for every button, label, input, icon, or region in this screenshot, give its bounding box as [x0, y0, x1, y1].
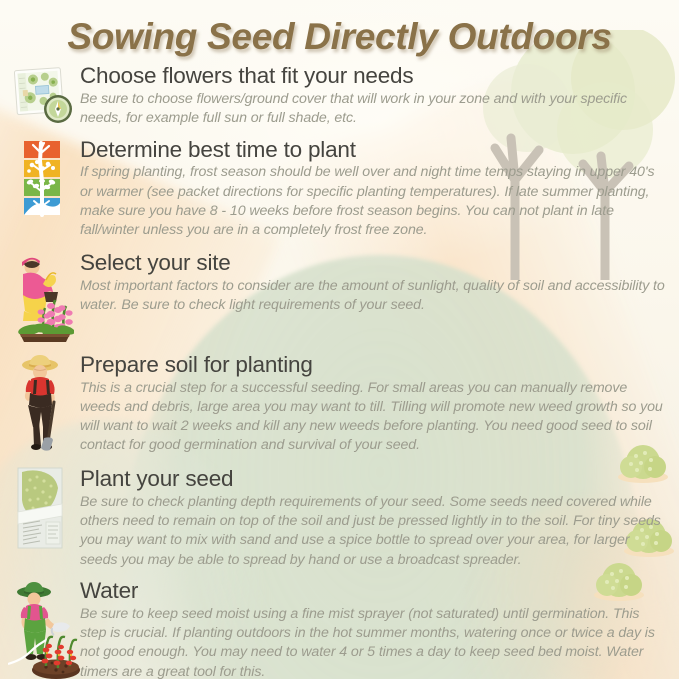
step-heading: Choose flowers that fit your needs: [80, 63, 667, 89]
step-text: Most important factors to consider are t…: [80, 277, 667, 316]
step-item: Select your site Most important factors …: [0, 250, 679, 342]
step-content: Plant your seed Be sure to check plantin…: [76, 466, 671, 570]
step-heading: Water: [80, 578, 667, 604]
step-heading: Determine best time to plant: [80, 137, 667, 163]
infographic-poster: Sowing Seed Directly Outdoors: [0, 0, 679, 679]
garden-plan-compass-icon: [10, 63, 76, 125]
step-text: This is a crucial step for a successful …: [80, 379, 667, 456]
step-content: Determine best time to plant If spring p…: [76, 137, 671, 241]
step-item: Determine best time to plant If spring p…: [0, 137, 679, 241]
step-content: Water Be sure to keep seed moist using a…: [76, 578, 671, 679]
step-heading: Select your site: [80, 250, 667, 276]
step-text: If spring planting, frost season should …: [80, 163, 667, 240]
page-title: Sowing Seed Directly Outdoors: [0, 16, 679, 58]
step-item: Choose flowers that fit your needs Be su…: [0, 63, 679, 129]
step-content: Select your site Most important factors …: [76, 250, 671, 316]
step-text: Be sure to choose flowers/ground cover t…: [80, 90, 667, 129]
step-content: Prepare soil for planting This is a cruc…: [76, 352, 671, 456]
step-heading: Prepare soil for planting: [80, 352, 667, 378]
step-heading: Plant your seed: [80, 466, 667, 492]
four-seasons-icon: [10, 137, 76, 219]
step-item: Plant your seed Be sure to check plantin…: [0, 466, 679, 570]
step-item: Water Be sure to keep seed moist using a…: [0, 578, 679, 679]
gardener-planting-flowers-icon: [10, 250, 76, 342]
step-content: Choose flowers that fit your needs Be su…: [76, 63, 671, 129]
seed-packet-icon: [10, 466, 76, 550]
step-text: Be sure to keep seed moist using a fine …: [80, 605, 667, 679]
step-text: Be sure to check planting depth requirem…: [80, 493, 667, 570]
step-item: Prepare soil for planting This is a cruc…: [0, 352, 679, 456]
gardener-with-shovel-icon: [10, 352, 76, 452]
steps-list: Choose flowers that fit your needs Be su…: [0, 63, 679, 679]
gardener-watering-icon: [10, 578, 76, 679]
